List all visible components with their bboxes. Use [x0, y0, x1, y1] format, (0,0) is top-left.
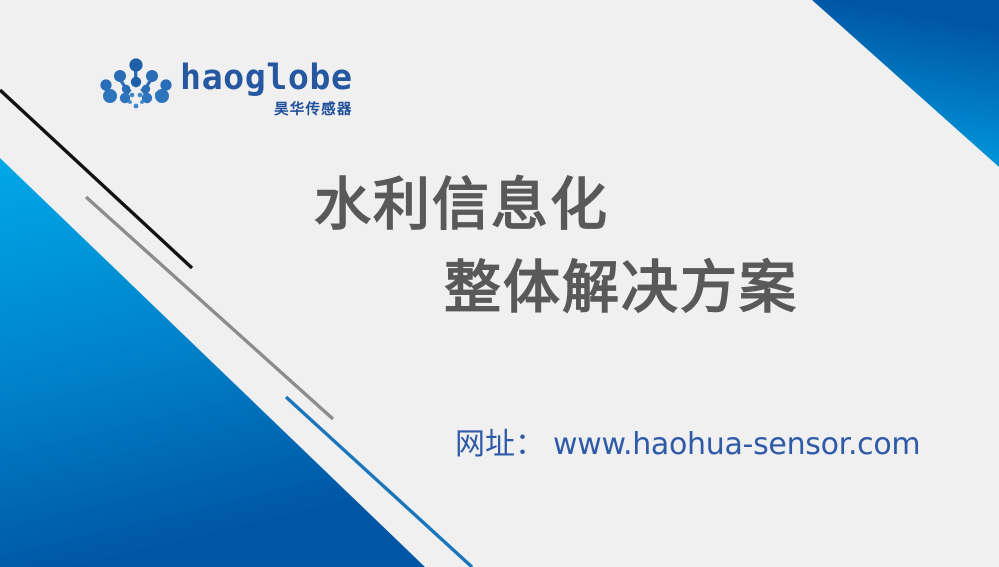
logo-text-group: haoglobe 昊华传感器 [180, 58, 353, 119]
website-label: 网址： [455, 419, 545, 463]
website-url[interactable]: www.haohua-sensor.com [553, 427, 920, 462]
presentation-slide: haoglobe 昊华传感器 水利信息化 整体解决方案 网址： www.haoh… [0, 0, 999, 567]
logo-subtitle: 昊华传感器 [274, 98, 353, 119]
website-line: 网址： www.haohua-sensor.com [455, 419, 920, 463]
logo-wordmark: haoglobe [180, 62, 353, 95]
company-logo: haoglobe 昊华传感器 [98, 58, 353, 119]
network-nodes-icon [98, 58, 174, 114]
